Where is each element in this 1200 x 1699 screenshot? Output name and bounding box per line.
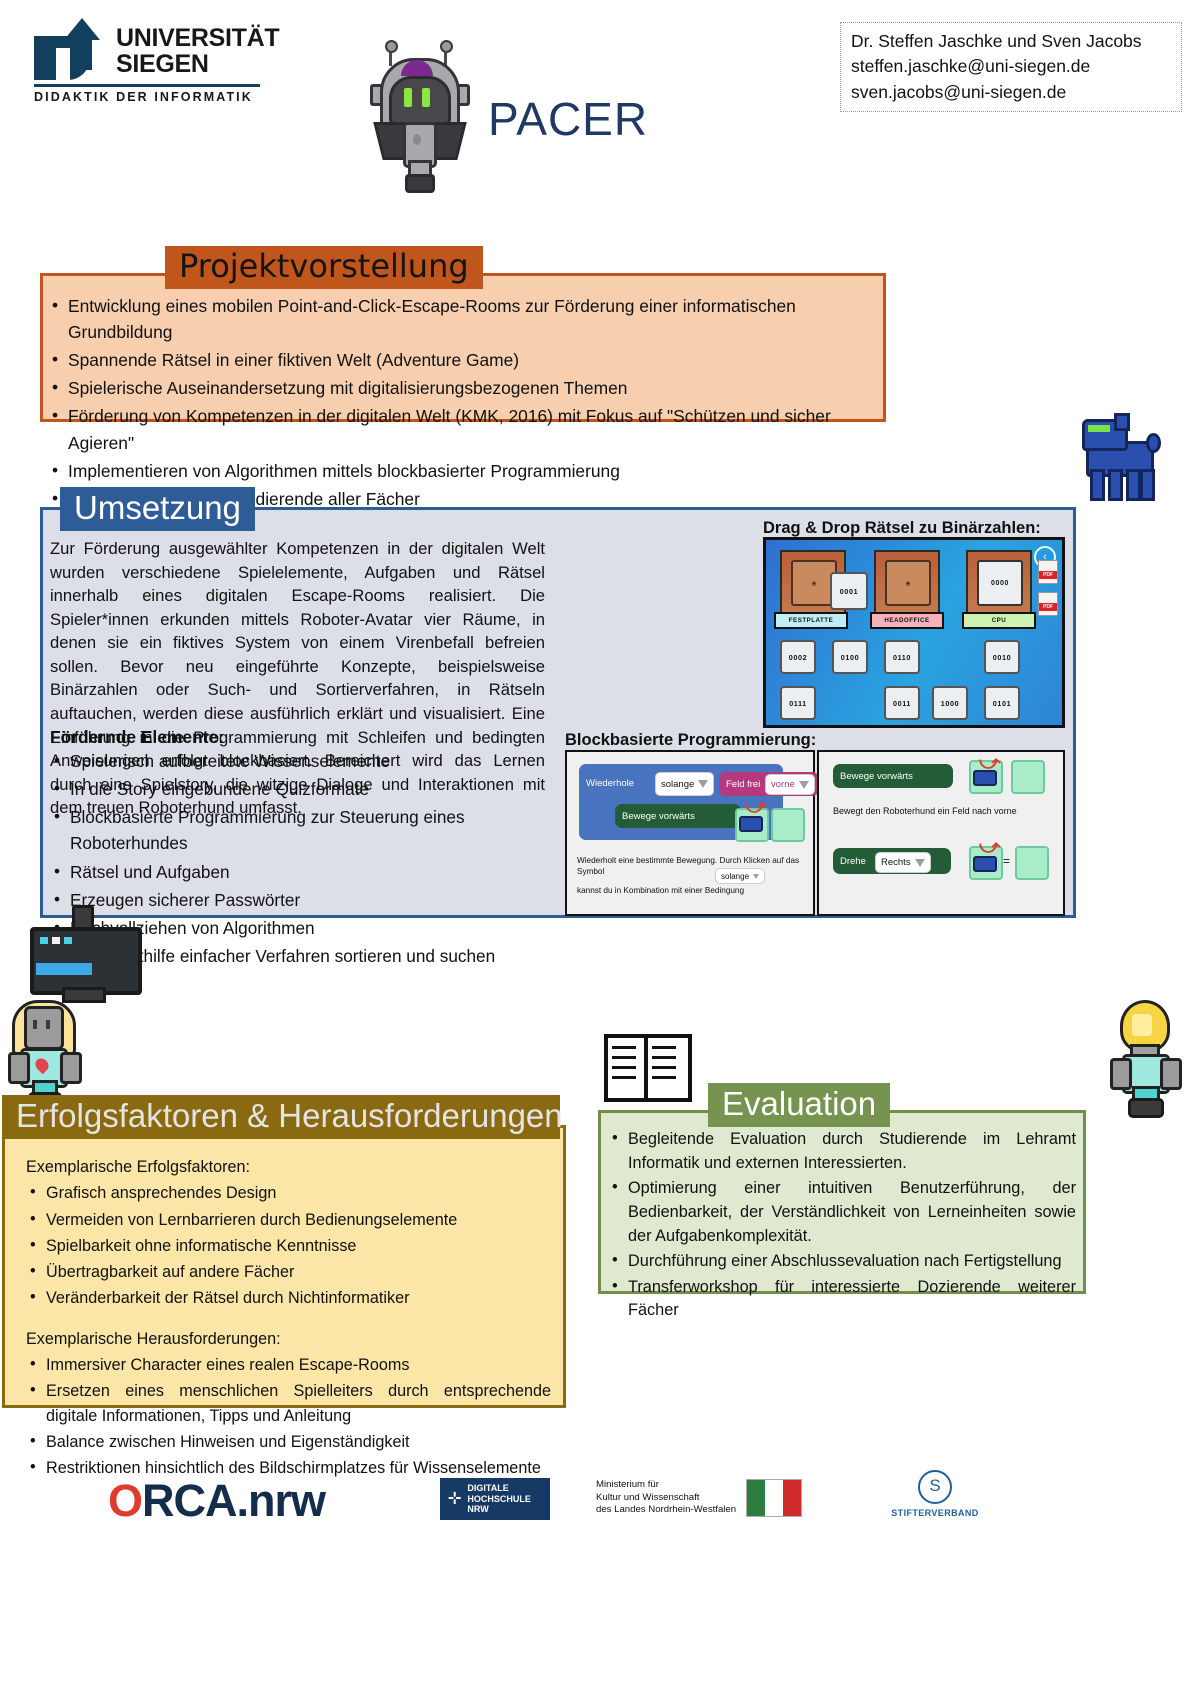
blockprogramming-caption: Blockbasierte Programmierung: (565, 731, 816, 750)
list-item: Förderung von Kompetenzen in der digital… (48, 403, 878, 455)
grid-tile (1015, 846, 1049, 880)
ministerium-nrw-logo: Ministerium für Kultur und Wissenschaft … (596, 1473, 846, 1523)
projektvorstellung-list: Entwicklung eines mobilen Point-and-Clic… (48, 293, 878, 514)
binary-card[interactable]: 0111 (780, 686, 816, 720)
chevron-down-icon (799, 781, 809, 789)
dropdown-solange[interactable]: solange (655, 772, 714, 796)
dh-line3: NRW (467, 1504, 531, 1514)
list-item: Spannende Rätsel in einer fiktiven Welt … (48, 347, 878, 373)
section-title-umsetzung: Umsetzung (60, 487, 255, 531)
pdf-icon[interactable]: PDF (1038, 592, 1058, 616)
block-bewege-vorwaerts[interactable]: Bewege vorwärts (833, 764, 953, 788)
list-item-text: Übertragbarkeit auf andere Fächer (46, 1263, 294, 1281)
block-label: Bewege vorwärts (622, 811, 695, 822)
list-item-text: Spielerisch aufbereitete Wissenselemente (70, 751, 390, 771)
binary-card[interactable]: 0100 (832, 640, 868, 674)
robot-mascot-icon (358, 42, 476, 177)
robot-dog-sprite (739, 816, 763, 832)
monitor-icon (28, 905, 138, 1000)
stifterverband-name: STIFTERVERBAND (880, 1508, 990, 1518)
grid-tile (1011, 760, 1045, 794)
binary-card[interactable]: 1000 (932, 686, 968, 720)
list-item: In die Story eingebundene Quizformate (50, 776, 570, 802)
section-title-projektvorstellung: Projektvorstellung (165, 246, 483, 289)
list-item-text: Entwicklung eines mobilen Point-and-Clic… (68, 296, 796, 342)
slot-label-headoffice: HEADOFFICE (870, 612, 944, 629)
note-pill-value: solange (721, 872, 749, 881)
list-item-text: Optimierung einer intuitiven Benutzerfüh… (628, 1179, 1076, 1244)
list-item-text: Spielerische Auseinandersetzung mit digi… (68, 378, 627, 398)
robot-dog-icon (1080, 413, 1190, 503)
list-item: Spielerische Auseinandersetzung mit digi… (48, 375, 878, 401)
list-item: Entwicklung eines mobilen Point-and-Clic… (48, 293, 878, 345)
list-item-text: Spannende Rätsel in einer fiktiven Welt … (68, 350, 519, 370)
list-item-text: Implementieren von Algorithmen mittels b… (68, 461, 620, 481)
block-bewege-vorwaerts[interactable]: Bewege vorwärts (615, 804, 741, 828)
orca-prefix: O (108, 1475, 142, 1526)
list-item: Immersiver Character eines realen Escape… (26, 1353, 551, 1377)
digitale-hochschule-nrw-logo: ⊹ DIGITALE HOCHSCHULE NRW (440, 1478, 550, 1520)
list-item: Übertragbarkeit auf andere Fächer (26, 1260, 551, 1284)
list-item-text: Transferworkshop für interessierte Dozie… (628, 1278, 1076, 1320)
list-item-text: Durchführung einer Abschlussevaluation n… (628, 1252, 1062, 1270)
orca-rest: RCA.nrw (142, 1475, 325, 1526)
uni-siegen-mark-icon (30, 18, 108, 80)
block-note-part1: Wiederholt eine bestimmte Bewegung. Durc… (577, 856, 799, 876)
erfolgsfaktoren-heading-1: Exemplarische Erfolgsfaktoren: (26, 1155, 551, 1179)
erfolgsfaktoren-content: Exemplarische Erfolgsfaktoren: Grafisch … (26, 1155, 551, 1483)
block-label: Wiederhole (586, 778, 634, 789)
university-name: UNIVERSITÄT SIEGEN (116, 26, 279, 77)
blockprogramming-left-screenshot: Wiederhole solange Feld frei vorne Beweg… (565, 750, 815, 916)
chevron-down-icon (753, 874, 759, 879)
dropdown-value: solange (661, 779, 694, 790)
pdf-label: PDF (1039, 603, 1057, 611)
list-item: Rätsel und Aufgaben (50, 859, 570, 885)
dh-line2: HOCHSCHULE (467, 1494, 531, 1504)
grid-tile (771, 808, 805, 842)
dropdown-vorne[interactable]: vorne (765, 774, 815, 795)
list-item-text: Immersiver Character eines realen Escape… (46, 1356, 409, 1374)
section-title-erfolgsfaktoren: Erfolgsfaktoren & Herausforderungen (2, 1095, 560, 1139)
drop-slot-headoffice[interactable]: ♠ (874, 550, 940, 614)
dropdown-rechts[interactable]: Rechts (875, 852, 931, 873)
stifterverband-logo: S STIFTERVERBAND (880, 1470, 990, 1524)
block-description: Bewegt den Roboterhund ein Feld nach vor… (833, 806, 1045, 818)
binary-card-attached[interactable]: 0001 (830, 572, 868, 610)
lightbulb-figure-icon (1102, 1000, 1182, 1112)
binary-card[interactable]: 0011 (884, 686, 920, 720)
slot-label-festplatte: FESTPLATTE (774, 612, 848, 629)
list-item-text: Grafisch ansprechendes Design (46, 1184, 276, 1202)
drop-slot-cpu[interactable]: 0000 (966, 550, 1032, 614)
umsetzung-subheading: Fördernde Elemente: (50, 727, 550, 748)
chevron-down-icon (698, 780, 708, 788)
list-item-text: Spielbarkeit ohne informatische Kenntnis… (46, 1237, 356, 1255)
dropdown-value: vorne (771, 779, 795, 790)
list-item: Implementieren von Algorithmen mittels b… (48, 458, 878, 484)
stifterverband-mark: S (918, 1470, 952, 1504)
slot-inner: ♠ (885, 560, 931, 606)
list-item: Spielerisch aufbereitete Wissenselemente (50, 748, 570, 774)
contact-box: Dr. Steffen Jaschke und Sven Jacobs stef… (840, 22, 1182, 112)
evaluation-list: Begleitende Evaluation durch Studierende… (608, 1128, 1076, 1325)
list-item-text: Rätsel und Aufgaben (70, 862, 230, 882)
dh-mark-icon: ⊹ (448, 1490, 461, 1508)
list-item-text: Ersetzen eines menschlichen Spielleiters… (46, 1382, 551, 1424)
binary-card[interactable]: 0110 (884, 640, 920, 674)
list-item-text: Veränderbarkeit der Rätsel durch Nichtin… (46, 1289, 409, 1307)
contact-email-1[interactable]: steffen.jaschke@uni-siegen.de (851, 54, 1171, 79)
block-label: Drehe (840, 856, 866, 867)
logo-divider (34, 84, 260, 87)
university-line1: UNIVERSITÄT (116, 26, 279, 52)
list-item-text: Vermeiden von Lernbarrieren durch Bedien… (46, 1211, 457, 1229)
binary-card[interactable]: 0002 (780, 640, 816, 674)
robot-dog-sprite (973, 770, 997, 786)
list-item: Transferworkshop für interessierte Dozie… (608, 1276, 1076, 1323)
block-label: Feld frei (726, 779, 760, 790)
dragdrop-caption: Drag & Drop Rätsel zu Binärzahlen: (763, 519, 1041, 538)
list-item-text: Balance zwischen Hinweisen und Eigenstän… (46, 1433, 410, 1451)
university-line2: SIEGEN (116, 52, 279, 78)
list-item: Durchführung einer Abschlussevaluation n… (608, 1250, 1076, 1274)
university-logo: UNIVERSITÄT SIEGEN DIDAKTIK DER INFORMAT… (30, 18, 260, 98)
open-book-icon (604, 1034, 686, 1096)
list-item: Vermeiden von Lernbarrieren durch Bedien… (26, 1208, 551, 1232)
dh-line1: DIGITALE (467, 1483, 531, 1493)
note-pill-solange: solange (715, 868, 765, 884)
robot-dog-sprite (973, 856, 997, 872)
student-figure-icon (8, 1000, 80, 1108)
orca-nrw-logo: ORCA.nrw (108, 1475, 325, 1527)
blockprogramming-right-screenshot: Bewege vorwärts ⤻ Bewegt den Roboterhund… (817, 750, 1065, 916)
nrw-flag-icon (746, 1479, 802, 1517)
slot-label-cpu: CPU (962, 612, 1036, 629)
list-item-text: Begleitende Evaluation durch Studierende… (628, 1130, 1076, 1172)
list-item: Ersetzen eines menschlichen Spielleiters… (26, 1379, 551, 1428)
pdf-icon[interactable]: PDF (1038, 560, 1058, 584)
dropdown-value: Rechts (881, 857, 911, 868)
list-item: Grafisch ansprechendes Design (26, 1181, 551, 1205)
ministerium-text: Ministerium für Kultur und Wissenschaft … (596, 1479, 736, 1518)
list-item: Spielbarkeit ohne informatische Kenntnis… (26, 1234, 551, 1258)
contact-authors: Dr. Steffen Jaschke und Sven Jacobs (851, 29, 1171, 54)
slot-inner-value: 0000 (977, 560, 1023, 606)
binary-card[interactable]: 0010 (984, 640, 1020, 674)
section-title-evaluation: Evaluation (708, 1083, 890, 1127)
pdf-label: PDF (1039, 571, 1057, 579)
list-item: Optimierung einer intuitiven Benutzerfüh… (608, 1177, 1076, 1248)
department-subtitle: DIDAKTIK DER INFORMATIK (34, 90, 253, 104)
list-item: Veränderbarkeit der Rätsel durch Nichtin… (26, 1286, 551, 1310)
chevron-down-icon (915, 859, 925, 867)
list-item: Balance zwischen Hinweisen und Eigenstän… (26, 1430, 551, 1454)
erfolgsfaktoren-heading-2: Exemplarische Herausforderungen: (26, 1327, 551, 1351)
list-item-text: Förderung von Kompetenzen in der digital… (68, 406, 831, 452)
binary-card[interactable]: 0101 (984, 686, 1020, 720)
block-note-part2: kannst du in Kombination mit einer Bedin… (577, 886, 801, 897)
block-label: Bewege vorwärts (840, 771, 913, 782)
list-item-text: Blockbasierte Programmierung zur Steueru… (70, 807, 465, 853)
list-item: Blockbasierte Programmierung zur Steueru… (50, 804, 570, 856)
list-item: Begleitende Evaluation durch Studierende… (608, 1128, 1076, 1175)
block-note-text: Wiederholt eine bestimmte Bewegung. Durc… (577, 856, 801, 877)
page-title: PACER (488, 92, 648, 146)
dragdrop-screenshot: ‹ ♠ 0001 FESTPLATTE ♠ HEADOFFICE 0000 CP… (763, 537, 1065, 728)
list-item-text: In die Story eingebundene Quizformate (70, 779, 369, 799)
contact-email-2[interactable]: sven.jacobs@uni-siegen.de (851, 80, 1171, 105)
equals-sign: = (1003, 854, 1010, 868)
